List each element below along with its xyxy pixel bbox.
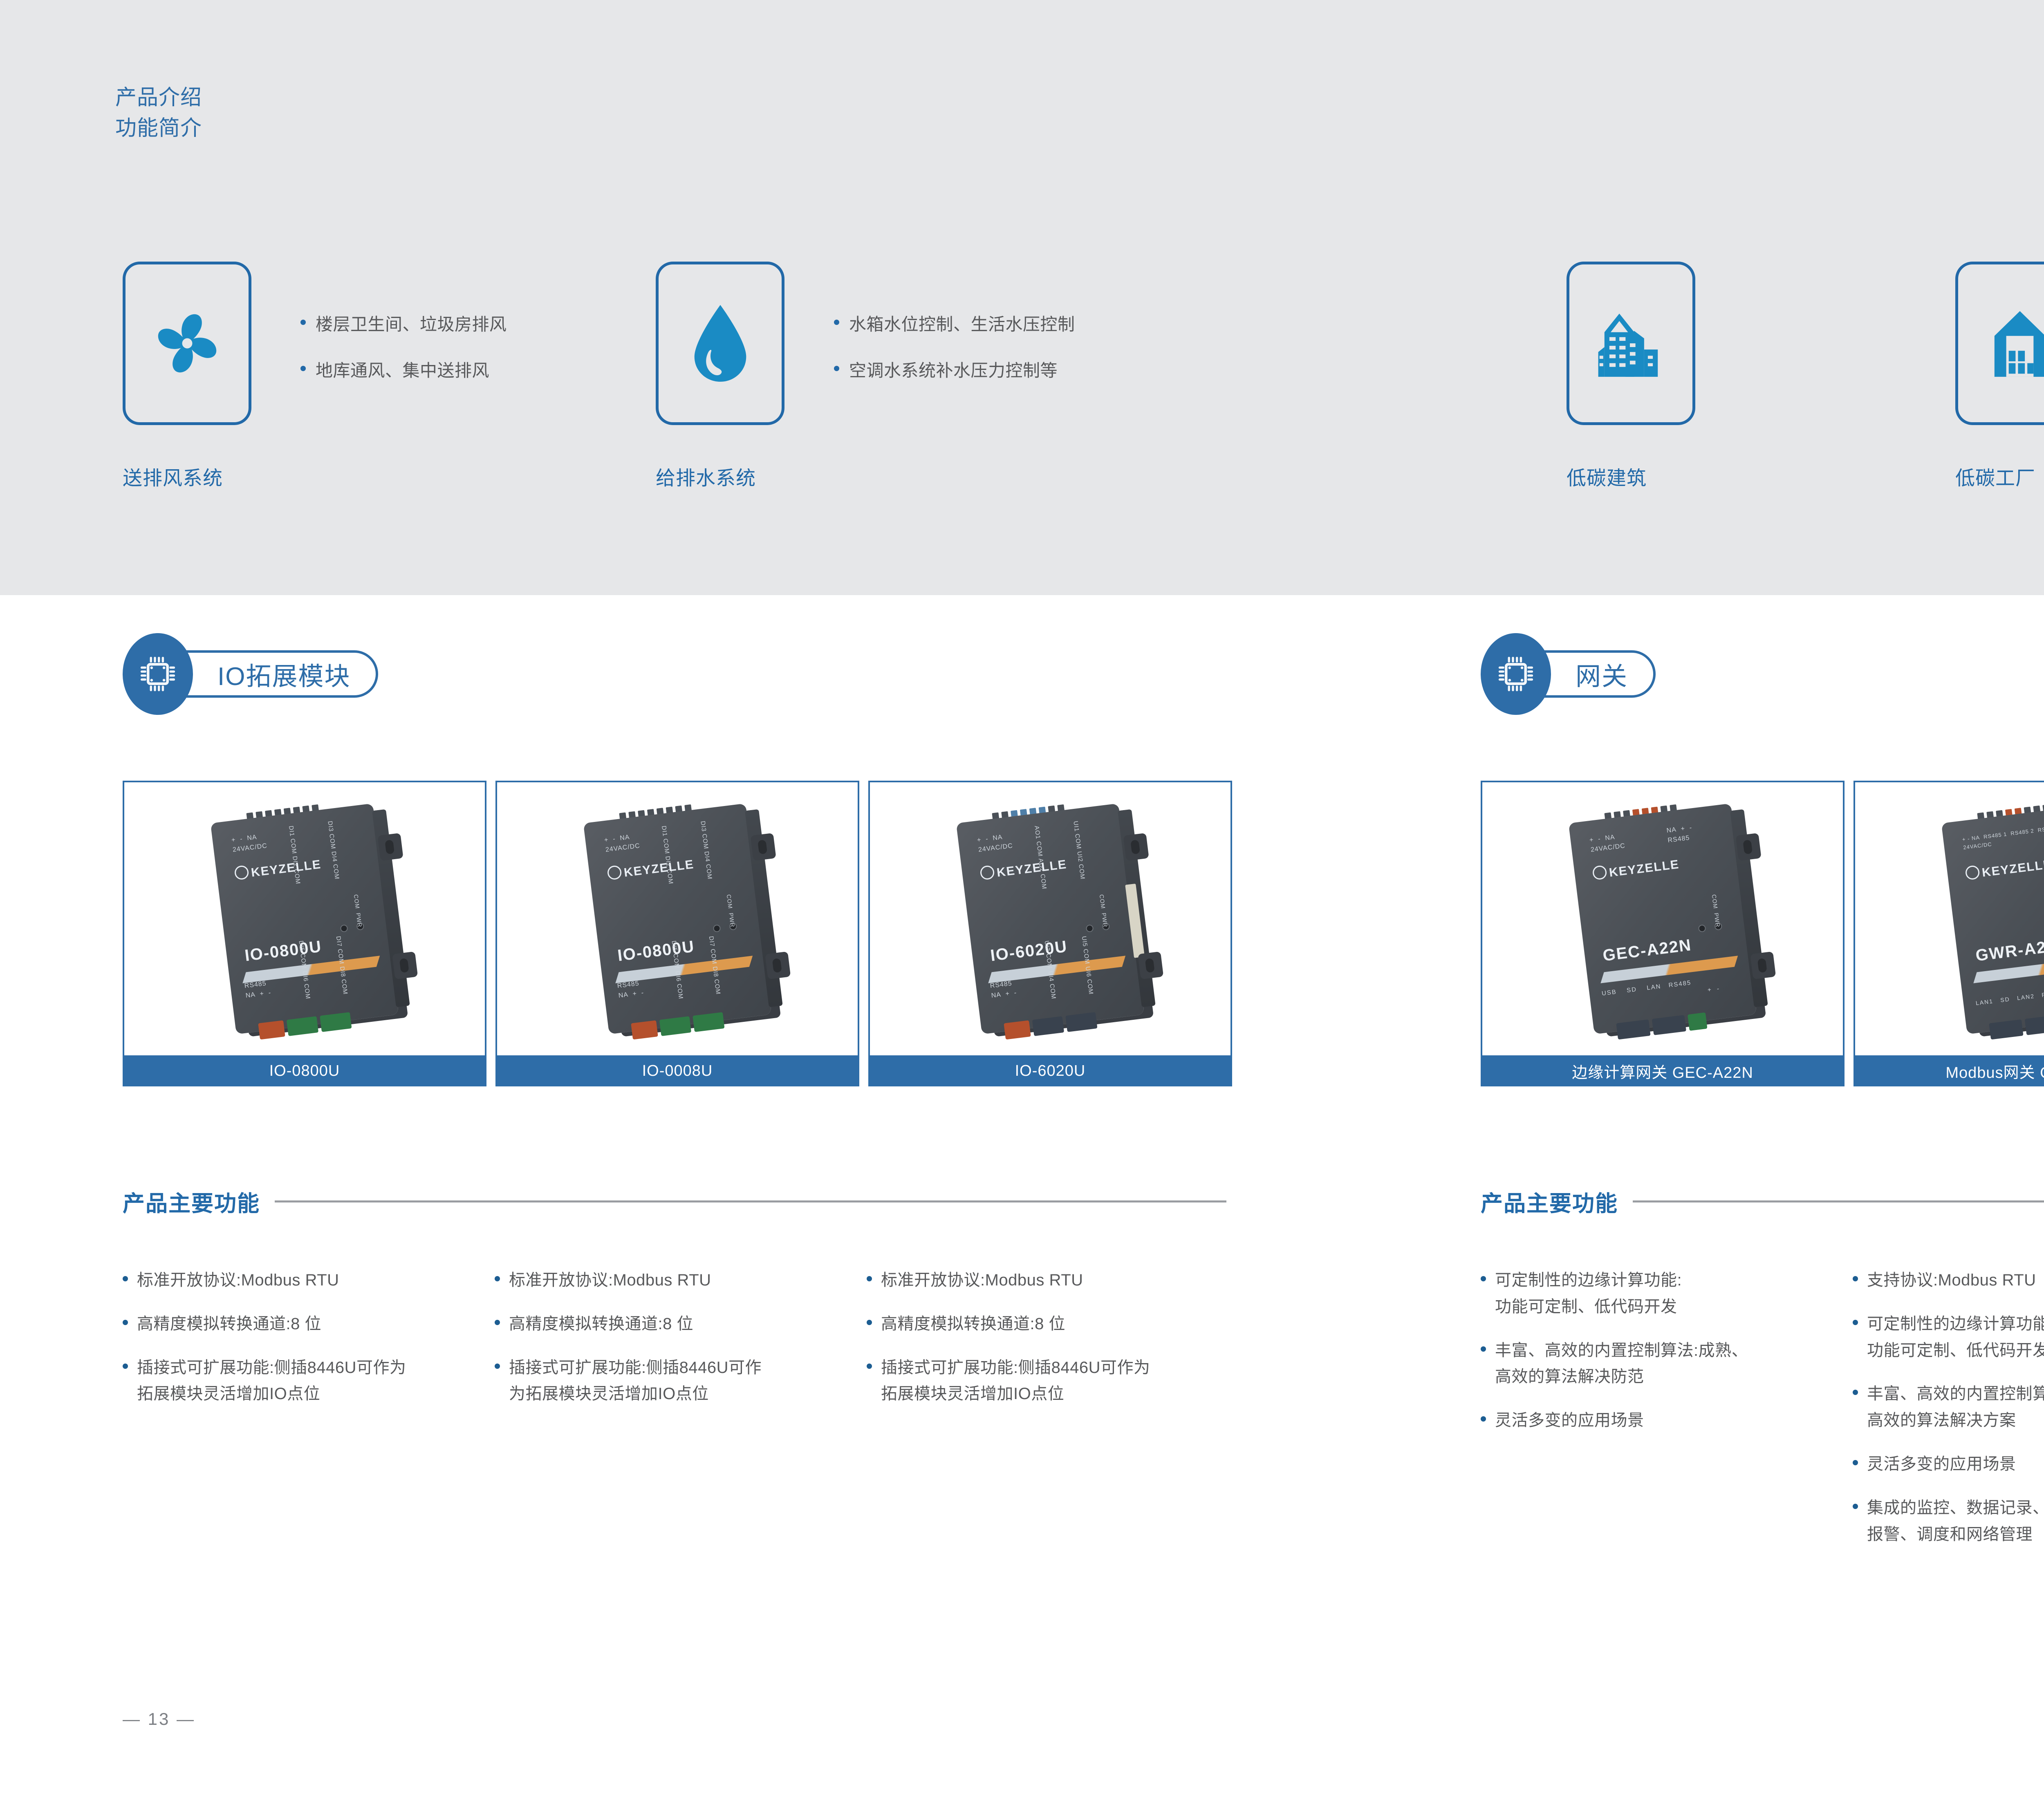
product-image: + - NA24VAC/DC DI1 COM DI2 COM DI3 COM D… xyxy=(123,781,486,1055)
chip-icon xyxy=(1481,633,1551,715)
feature-item: 标准开放协议:Modbus RTU xyxy=(495,1267,867,1294)
bullet-dot xyxy=(495,1276,500,1281)
product-card[interactable]: + - NA RS485 1 RS485 2 RS485 324VAC/DC K… xyxy=(1853,781,2044,1086)
product-caption: IO-6020U xyxy=(868,1055,1232,1086)
bullet-dot xyxy=(1853,1320,1858,1325)
feature-column: 标准开放协议:Modbus RTU 高精度模拟转换通道:8 位 插接式可扩展功能… xyxy=(495,1267,867,1424)
bullet-dot xyxy=(300,366,306,371)
product-caption: IO-0800U xyxy=(123,1055,486,1086)
features-heading-gateways: 产品主要功能 xyxy=(1481,1185,2044,1218)
brochure-page: 产品介绍 功能简介 产品介绍 功能简介 送排风系统 楼层卫生间、垃圾房排风 地库… xyxy=(0,0,2044,1798)
feature-item: 高精度模拟转换通道:8 位 xyxy=(867,1311,1239,1337)
feature-columns-gateways: 可定制性的边缘计算功能: 功能可定制、低代码开发 丰富、高效的内置控制算法:成熟… xyxy=(1481,1267,2044,1565)
feature-item: 高精度模拟转换通道:8 位 xyxy=(123,1311,495,1337)
bullet-dot xyxy=(867,1320,872,1325)
bullet-dot xyxy=(123,1276,128,1281)
bullet-text: 水箱水位控制、生活水压控制 xyxy=(849,311,1075,336)
bullet-item: 地库通风、集中送排风 xyxy=(300,357,507,382)
feature-columns-io: 标准开放协议:Modbus RTU 高精度模拟转换通道:8 位 插接式可扩展功能… xyxy=(123,1267,1239,1424)
feature-item: 可定制性的边缘计算功能:功能可定制、低代码开发 xyxy=(1853,1311,2044,1364)
device-mount-ear xyxy=(1736,833,1762,861)
scenario-bullets-ventilation: 楼层卫生间、垃圾房排风 地库通风、集中送排风 xyxy=(300,311,507,403)
bullet-dot xyxy=(123,1364,128,1369)
bullet-dot xyxy=(1853,1504,1858,1509)
feature-text: 高精度模拟转换通道:8 位 xyxy=(137,1311,321,1337)
feature-text: 高精度模拟转换通道:8 位 xyxy=(509,1311,693,1337)
product-image: + - NA24VAC/DC DI1 COM DI2 COM DI3 COM D… xyxy=(495,781,859,1055)
scenario-bullets-water-supply: 水箱水位控制、生活水压控制 空调水系统补水压力控制等 xyxy=(834,311,1075,403)
product-card[interactable]: + - NA24VAC/DC DI1 COM DI2 COM DI3 COM D… xyxy=(495,781,859,1086)
top-gray-band xyxy=(0,0,2044,595)
feature-text: 灵活多变的应用场景 xyxy=(1495,1407,1644,1434)
bullet-dot xyxy=(1853,1276,1858,1281)
product-image: + - NA RS485 1 RS485 2 RS485 324VAC/DC K… xyxy=(1853,781,2044,1055)
scenario-tile-water-supply xyxy=(656,262,784,425)
application-tile-low-carbon-factory xyxy=(1955,262,2044,425)
office-buildings-icon xyxy=(1597,306,1665,381)
bullet-dot xyxy=(867,1364,872,1369)
bullet-dot xyxy=(1481,1276,1486,1281)
device-mount-ear xyxy=(392,952,418,979)
feature-item: 灵活多变的应用场景 xyxy=(1481,1407,1853,1434)
section-badge-label: 网关 xyxy=(1576,656,1628,692)
bullet-item: 空调水系统补水压力控制等 xyxy=(834,357,1075,382)
feature-item: 可定制性的边缘计算功能: 功能可定制、低代码开发 xyxy=(1481,1267,1853,1320)
section-badge-label: IO拓展模块 xyxy=(217,656,350,692)
device-bottom-label: RS485NA + - xyxy=(617,978,645,1001)
bullet-dot xyxy=(300,320,306,325)
device-bottom-label: RS485NA + - xyxy=(990,978,1018,1001)
product-caption: Modbus网关 GWR-A25N xyxy=(1853,1055,2044,1086)
product-image: + - NA24VAC/DC NA + -RS485 KEYZELLE GEC-… xyxy=(1481,781,1845,1055)
device-mount-ear xyxy=(1138,952,1163,979)
feature-item: 高精度模拟转换通道:8 位 xyxy=(495,1311,867,1337)
device-mount-ear xyxy=(1750,952,1776,979)
device-top-label: + - NA24VAC/DC xyxy=(604,831,641,855)
feature-column: 标准开放协议:Modbus RTU 高精度模拟转换通道:8 位 插接式可扩展功能… xyxy=(123,1267,495,1424)
bullet-text: 地库通风、集中送排风 xyxy=(316,357,489,382)
features-heading-io: 产品主要功能 xyxy=(123,1185,1226,1218)
feature-text: 支持协议:Modbus RTU xyxy=(1867,1267,2036,1294)
bullet-dot xyxy=(495,1320,500,1325)
feature-item: 标准开放协议:Modbus RTU xyxy=(867,1267,1239,1294)
bullet-item: 楼层卫生间、垃圾房排风 xyxy=(300,311,507,336)
feature-column: 支持协议:Modbus RTU 可定制性的边缘计算功能:功能可定制、低代码开发 … xyxy=(1853,1267,2044,1565)
feature-column: 可定制性的边缘计算功能: 功能可定制、低代码开发 丰富、高效的内置控制算法:成熟… xyxy=(1481,1267,1853,1565)
device-mount-ear xyxy=(751,833,776,861)
feature-text: 高精度模拟转换通道:8 位 xyxy=(881,1311,1065,1337)
feature-item: 插接式可扩展功能:侧插8446U可作为拓展模块灵活增加IO点位 xyxy=(495,1355,867,1408)
product-card-list-io: + - NA24VAC/DC DI1 COM DI2 COM DI3 COM D… xyxy=(123,781,1232,1086)
product-card[interactable]: + - NA24VAC/DC DI1 COM DI2 COM DI3 COM D… xyxy=(123,781,486,1086)
bullet-dot xyxy=(1853,1460,1858,1465)
bullet-item: 水箱水位控制、生活水压控制 xyxy=(834,311,1075,336)
product-caption: 边缘计算网关 GEC-A22N xyxy=(1481,1055,1845,1086)
bullet-dot xyxy=(495,1364,500,1369)
heading-rule xyxy=(1633,1200,2044,1202)
scenario-caption-ventilation: 送排风系统 xyxy=(123,462,223,490)
feature-text: 插接式可扩展功能:侧插8446U可作为拓展模块灵活增加IO点位 xyxy=(881,1355,1150,1408)
feature-column: 标准开放协议:Modbus RTU 高精度模拟转换通道:8 位 插接式可扩展功能… xyxy=(867,1267,1239,1424)
feature-item: 丰富、高效的内置控制算法:成熟、高效的算法解决方案 xyxy=(1853,1381,2044,1434)
feature-text: 丰富、高效的内置控制算法:成熟、高效的算法解决防范 xyxy=(1495,1337,1748,1390)
section-badge-gateways: 网关 xyxy=(1481,638,1656,710)
feature-item: 支持协议:Modbus RTU xyxy=(1853,1267,2044,1294)
feature-text: 插接式可扩展功能:侧插8446U可作为拓展模块灵活增加IO点位 xyxy=(509,1355,762,1408)
bullet-dot xyxy=(1481,1416,1486,1422)
feature-text: 标准开放协议:Modbus RTU xyxy=(881,1267,1083,1294)
device-mount-ear xyxy=(765,952,791,979)
scenario-tile-ventilation xyxy=(123,262,251,425)
chip-icon xyxy=(123,633,193,715)
bullet-dot xyxy=(834,366,839,371)
feature-text: 可定制性的边缘计算功能: 功能可定制、低代码开发 xyxy=(1495,1267,1682,1320)
product-card-list-gateway: + - NA24VAC/DC NA + -RS485 KEYZELLE GEC-… xyxy=(1481,781,2044,1086)
product-card[interactable]: + - NA24VAC/DC NA + -RS485 KEYZELLE GEC-… xyxy=(1481,781,1845,1086)
product-card[interactable]: + - NA24VAC/DC AO1 COM AO2 COM UI1 COM U… xyxy=(868,781,1232,1086)
feature-text: 标准开放协议:Modbus RTU xyxy=(509,1267,711,1294)
feature-item: 标准开放协议:Modbus RTU xyxy=(123,1267,495,1294)
device-top-label: + - NA24VAC/DC xyxy=(231,831,268,855)
product-image: + - NA24VAC/DC AO1 COM AO2 COM UI1 COM U… xyxy=(868,781,1232,1055)
feature-text: 灵活多变的应用场景 xyxy=(1867,1451,2016,1478)
fan-icon xyxy=(151,307,224,380)
feature-text: 可定制性的边缘计算功能:功能可定制、低代码开发 xyxy=(1867,1311,2044,1364)
feature-text: 标准开放协议:Modbus RTU xyxy=(137,1267,339,1294)
bullet-dot xyxy=(123,1320,128,1325)
bullet-text: 空调水系统补水压力控制等 xyxy=(849,357,1058,382)
bullet-dot xyxy=(834,320,839,325)
factory-icon xyxy=(1986,306,2044,381)
application-caption-low-carbon-factory: 低碳工厂 xyxy=(1955,462,2035,490)
device-mount-ear xyxy=(378,833,403,861)
feature-item: 插接式可扩展功能:侧插8446U可作为拓展模块灵活增加IO点位 xyxy=(123,1355,495,1408)
device-top-label: NA + -RS485 xyxy=(1666,823,1694,846)
bullet-dot xyxy=(867,1276,872,1281)
application-caption-low-carbon-building: 低碳建筑 xyxy=(1567,462,1647,490)
features-title: 产品主要功能 xyxy=(123,1185,260,1218)
product-caption: IO-0008U xyxy=(495,1055,859,1086)
feature-item: 集成的监控、数据记录、能耗计量、报警、调度和网络管理 xyxy=(1853,1495,2044,1548)
device-mount-ear xyxy=(1123,833,1149,861)
feature-item: 丰富、高效的内置控制算法:成熟、高效的算法解决防范 xyxy=(1481,1337,1853,1390)
heading-rule xyxy=(275,1200,1226,1202)
bullet-text: 楼层卫生间、垃圾房排风 xyxy=(316,311,507,336)
feature-item: 灵活多变的应用场景 xyxy=(1853,1451,2044,1478)
bullet-dot xyxy=(1481,1346,1486,1352)
running-head-left: 产品介绍 功能简介 xyxy=(115,80,202,141)
device-top-label: + - NA24VAC/DC xyxy=(977,831,1013,855)
device-bottom-label: RS485NA + - xyxy=(244,978,272,1001)
feature-item: 插接式可扩展功能:侧插8446U可作为拓展模块灵活增加IO点位 xyxy=(867,1355,1239,1408)
application-tile-low-carbon-building xyxy=(1567,262,1695,425)
page-number-left: — 13 — xyxy=(123,1709,195,1729)
feature-text: 丰富、高效的内置控制算法:成熟、高效的算法解决方案 xyxy=(1867,1381,2044,1434)
feature-text: 集成的监控、数据记录、能耗计量、报警、调度和网络管理 xyxy=(1867,1495,2044,1548)
section-badge-io-modules: IO拓展模块 xyxy=(123,638,378,710)
feature-text: 插接式可扩展功能:侧插8446U可作为拓展模块灵活增加IO点位 xyxy=(137,1355,406,1408)
device-top-label: + - NA24VAC/DC xyxy=(1589,831,1626,855)
water-drop-icon xyxy=(690,303,751,383)
features-title: 产品主要功能 xyxy=(1481,1185,1618,1218)
bullet-dot xyxy=(1853,1390,1858,1395)
scenario-caption-water-supply: 给排水系统 xyxy=(656,462,756,490)
